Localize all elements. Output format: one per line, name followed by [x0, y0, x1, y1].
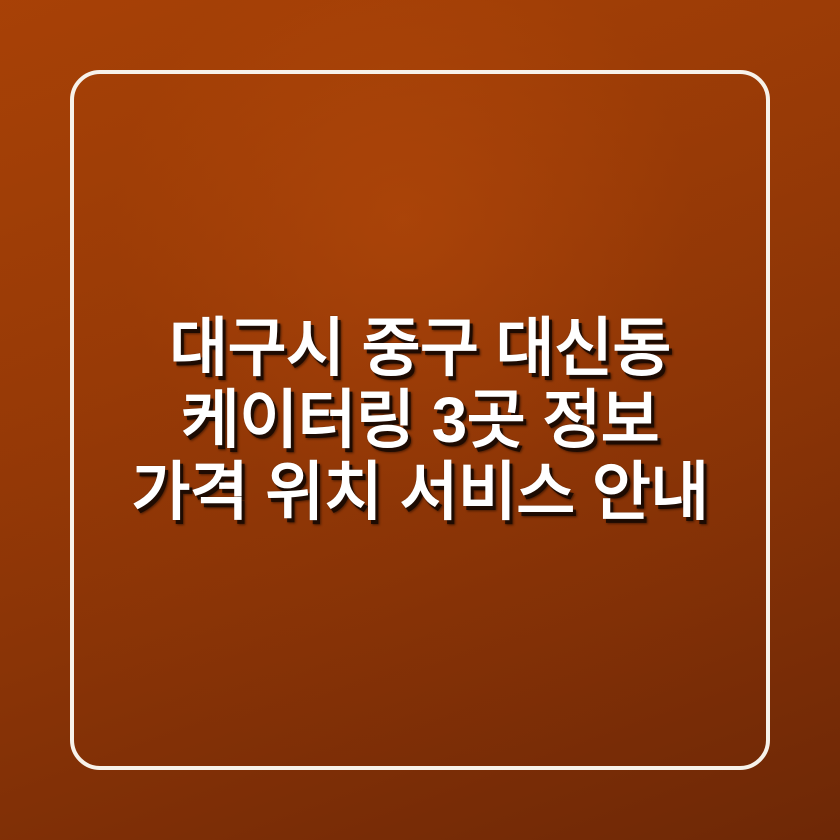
headline-line-2: 케이터링 3곳 정보 — [86, 384, 754, 456]
headline-block: 대구시 중구 대신동 케이터링 3곳 정보 가격 위치 서비스 안내 — [0, 0, 840, 840]
headline-line-1: 대구시 중구 대신동 — [86, 312, 754, 384]
headline-line-3: 가격 위치 서비스 안내 — [86, 456, 754, 528]
poster-canvas: 대구시 중구 대신동 케이터링 3곳 정보 가격 위치 서비스 안내 — [0, 0, 840, 840]
